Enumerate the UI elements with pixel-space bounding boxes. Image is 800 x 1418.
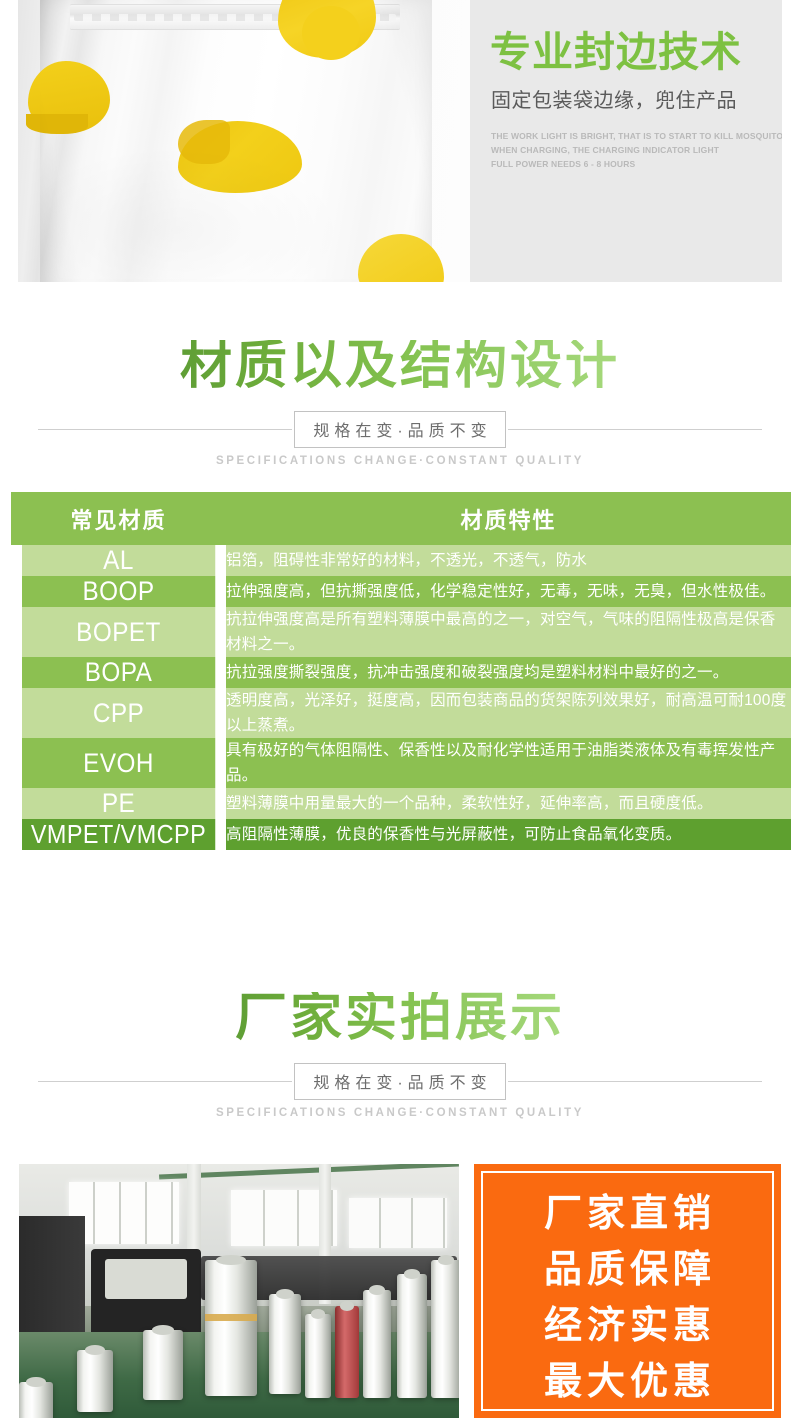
promo-line-3: 经济实惠 [483,1298,772,1354]
promo-line-2: 品质保障 [483,1242,772,1298]
cell-material-desc: 铝箔，阻碍性非常好的材料，不透光，不透气，防水 [226,545,791,576]
cell-material-name: AL [22,545,216,576]
factory-machine [91,1249,201,1341]
banner-english-line-1: THE WORK LIGHT IS BRIGHT, THAT IS TO STA… [491,129,781,143]
column-header-property: 材质特性 [226,492,791,545]
section-badge-label: 规格在变·品质不变 [308,1069,491,1093]
film-roll [363,1290,391,1398]
film-roll [431,1260,459,1398]
badge-rule-right [508,1081,762,1082]
section-badge-row: 规格在变·品质不变 [0,414,800,444]
showcase-photo-row: 厂家直销 品质保障 经济实惠 最大优惠 [0,1164,800,1418]
section-title: 材质以及结构设计 [180,340,620,392]
section-badge: 规格在变·品质不变 [294,1063,505,1100]
table-row: BOPET 抗拉伸强度高是所有塑料薄膜中最高的之一，对空气，气味的阻隔性极高是保… [11,607,791,657]
cell-material-name: VMPET/VMCPP [22,819,216,850]
table-head: 常见材质 材质特性 [11,492,791,545]
film-roll [397,1274,427,1398]
promo-line-1: 厂家直销 [483,1186,772,1242]
section-heading-materials: 材质以及结构设计 规格在变·品质不变 SPECIFICATIONS CHANGE… [0,340,800,467]
section-title: 厂家实拍展示 [235,992,565,1044]
section-english-subtitle: SPECIFICATIONS CHANGE·CONSTANT QUALITY [0,1107,800,1119]
banner-copy: 专业封边技术 固定包装袋边缘，兜住产品 THE WORK LIGHT IS BR… [490,0,782,282]
banner-subheadline: 固定包装袋边缘，兜住产品 [491,84,737,113]
film-roll [19,1382,53,1418]
badge-rule-left [38,429,292,430]
factory-machine [19,1216,85,1346]
film-roll [143,1330,183,1400]
cell-material-desc: 拉伸强度高，但抗撕强度低，化学稳定性好，无毒，无味，无臭，但水性极佳。 [226,576,791,607]
cell-material-desc: 塑料薄膜中用量最大的一个品种，柔软性好，延伸率高，而且硬度低。 [226,788,791,819]
chip-graphic-icon [178,120,230,164]
pouch-bag-image [40,0,432,282]
promo-poster: 厂家直销 品质保障 经济实惠 最大优惠 [474,1164,781,1418]
table-row: AL 铝箔，阻碍性非常好的材料，不透光，不透气，防水 [11,545,791,576]
factory-window [69,1182,179,1244]
chip-graphic-icon [26,114,88,134]
table-row: CPP 透明度高，光泽好，挺度高，因而包装商品的货架陈列效果好，耐高温可耐100… [11,688,791,738]
material-table: 常见材质 材质特性 AL 铝箔，阻碍性非常好的材料，不透光，不透气，防水 BOO… [11,492,791,850]
table-header-row: 常见材质 材质特性 [11,492,791,545]
cell-material-desc: 具有极好的气体阻隔性、保香性以及耐化学性适用于油脂类液体及有毒挥发性产品。 [226,738,791,788]
banner-english-line-3: FULL POWER NEEDS 6 - 8 HOURS [491,157,781,171]
cell-material-desc: 抗拉强度撕裂强度，抗冲击强度和破裂强度均是塑料材料中最好的之一。 [226,657,791,688]
table-row: PE 塑料薄膜中用量最大的一个品种，柔软性好，延伸率高，而且硬度低。 [11,788,791,819]
chip-graphic-icon [358,234,444,282]
cell-material-name: BOOP [22,576,216,607]
table-row: BOPA 抗拉强度撕裂强度，抗冲击强度和破裂强度均是塑料材料中最好的之一。 [11,657,791,688]
film-roll [77,1350,113,1412]
badge-rule-left [38,1081,292,1082]
product-photo [18,0,470,282]
promo-line-4: 最大优惠 [483,1354,772,1410]
table-row: EVOH 具有极好的气体阻隔性、保香性以及耐化学性适用于油脂类液体及有毒挥发性产… [11,738,791,788]
film-roll [305,1314,331,1398]
film-roll [269,1294,301,1394]
cell-material-name: BOPA [22,657,216,688]
banner-headline: 专业封边技术 [490,18,742,78]
banner-english-line-2: WHEN CHARGING, THE CHARGING INDICATOR LI… [491,143,781,157]
cell-material-desc: 高阻隔性薄膜，优良的保香性与光屏蔽性，可防止食品氧化变质。 [226,819,791,850]
promo-poster-inner: 厂家直销 品质保障 经济实惠 最大优惠 [481,1171,774,1411]
product-detail-page: 专业封边技术 固定包装袋边缘，兜住产品 THE WORK LIGHT IS BR… [0,0,800,1418]
section-badge-row: 规格在变·品质不变 [0,1066,800,1096]
film-roll [335,1306,359,1398]
cell-material-desc: 透明度高，光泽好，挺度高，因而包装商品的货架陈列效果好，耐高温可耐100度以上蒸… [226,688,791,738]
factory-window [349,1198,447,1248]
table-body: AL 铝箔，阻碍性非常好的材料，不透光，不透气，防水 BOOP 拉伸强度高，但抗… [11,545,791,850]
cell-material-name: PE [22,788,216,819]
table-row: BOOP 拉伸强度高，但抗撕强度低，化学稳定性好，无毒，无味，无臭，但水性极佳。 [11,576,791,607]
chip-graphic-icon [302,6,360,60]
column-header-material: 常见材质 [11,492,226,545]
banner-english-block: THE WORK LIGHT IS BRIGHT, THAT IS TO STA… [491,129,781,171]
section-badge-label: 规格在变·品质不变 [308,417,491,441]
factory-photo [19,1164,459,1418]
section-badge: 规格在变·品质不变 [294,411,505,448]
cell-material-name: BOPET [22,607,216,657]
cell-material-name: EVOH [22,738,216,788]
section-english-subtitle: SPECIFICATIONS CHANGE·CONSTANT QUALITY [0,455,800,467]
table-row: VMPET/VMCPP 高阻隔性薄膜，优良的保香性与光屏蔽性，可防止食品氧化变质… [11,819,791,850]
badge-rule-right [508,429,762,430]
cell-material-desc: 抗拉伸强度高是所有塑料薄膜中最高的之一，对空气，气味的阻隔性极高是保香材料之一。 [226,607,791,657]
cell-material-name: CPP [22,688,216,738]
section-heading-showcase: 厂家实拍展示 规格在变·品质不变 SPECIFICATIONS CHANGE·C… [0,992,800,1119]
feature-banner: 专业封边技术 固定包装袋边缘，兜住产品 THE WORK LIGHT IS BR… [18,0,782,282]
film-roll [205,1260,257,1396]
